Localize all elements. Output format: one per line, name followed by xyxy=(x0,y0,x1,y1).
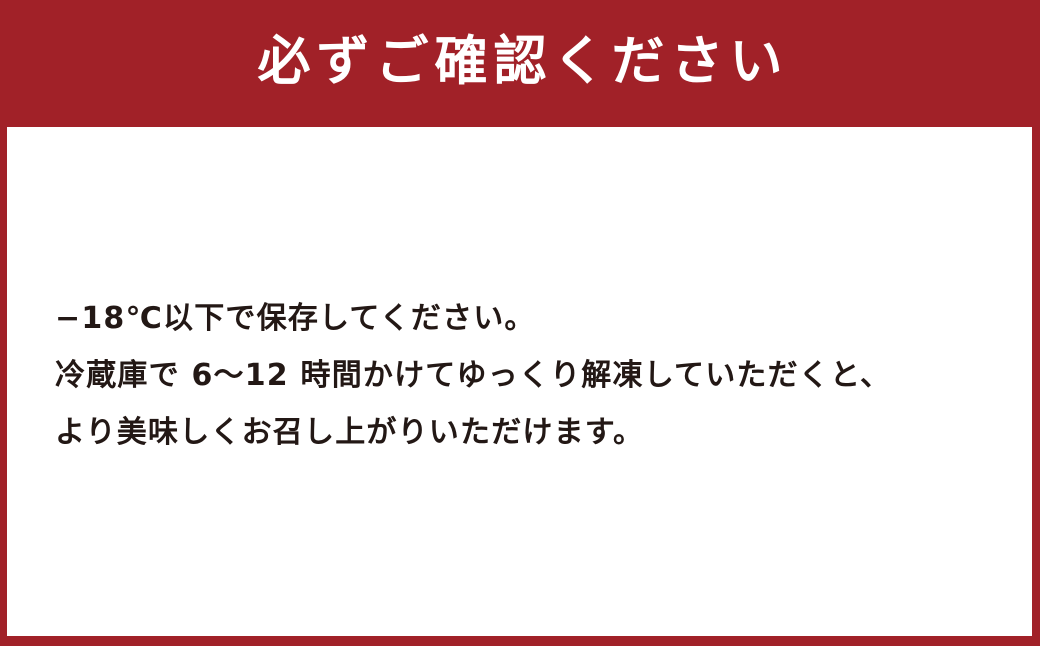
storage-instructions-banner: 必ずご確認ください −18℃以下で保存してください。 冷蔵庫で 6〜12 時間か… xyxy=(0,0,1040,646)
frame-border-bottom xyxy=(0,636,1040,646)
header-band: 必ずご確認ください xyxy=(0,0,1040,127)
body-panel: −18℃以下で保存してください。 冷蔵庫で 6〜12 時間かけてゆっくり解凍して… xyxy=(7,127,1032,636)
notice-line-1: −18℃以下で保存してください。 xyxy=(55,290,1005,347)
notice-line-3: より美味しくお召し上がりいただけます。 xyxy=(55,404,1005,461)
page-title: 必ずご確認ください xyxy=(252,35,789,92)
frame-border-left xyxy=(0,0,7,646)
notice-line-2: 冷蔵庫で 6〜12 時間かけてゆっくり解凍していただくと、 xyxy=(55,347,1005,404)
notice-text-block: −18℃以下で保存してください。 冷蔵庫で 6〜12 時間かけてゆっくり解凍して… xyxy=(55,290,1005,461)
frame-border-right xyxy=(1032,0,1040,646)
